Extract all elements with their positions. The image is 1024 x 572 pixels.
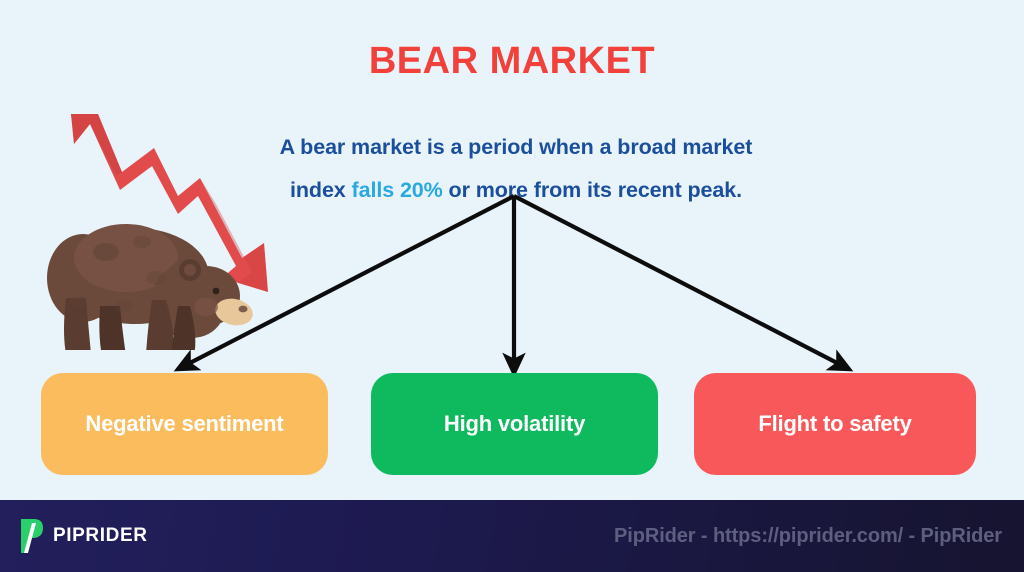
outcome-box-negative-sentiment[interactable]: Negative sentiment	[41, 373, 328, 475]
definition-line-2-suffix: or more from its recent peak.	[443, 178, 742, 202]
outcome-box-high-volatility[interactable]: High volatility	[371, 373, 658, 475]
footer-credit-text: PipRider - https://piprider.com/ - PipRi…	[614, 525, 1002, 548]
definition-highlight: falls 20%	[352, 178, 443, 202]
bear-illustration	[38, 100, 288, 350]
definition-line-1: A bear market is a period when a broad m…	[280, 135, 753, 159]
outcome-label: Negative sentiment	[85, 411, 283, 437]
definition-line-2-prefix: index	[290, 178, 352, 202]
brand-wordmark: PIPRIDER	[53, 525, 148, 547]
outcome-box-flight-to-safety[interactable]: Flight to safety	[694, 373, 976, 475]
footer-bar: PIPRIDER PipRider - https://piprider.com…	[0, 500, 1024, 572]
bear-illustration-svg	[38, 100, 288, 350]
arrow-to-flight-to-safety	[514, 196, 841, 365]
outcome-label: Flight to safety	[758, 411, 911, 437]
brand-lockup[interactable]: PIPRIDER	[18, 517, 148, 555]
piprider-logo-icon	[18, 517, 44, 555]
definition-text: A bear market is a period when a broad m…	[192, 126, 840, 212]
infographic-canvas: BEAR MARKET A bear market is a period wh…	[0, 0, 1024, 572]
page-title: BEAR MARKET	[0, 38, 1024, 84]
outcome-label: High volatility	[444, 411, 585, 437]
